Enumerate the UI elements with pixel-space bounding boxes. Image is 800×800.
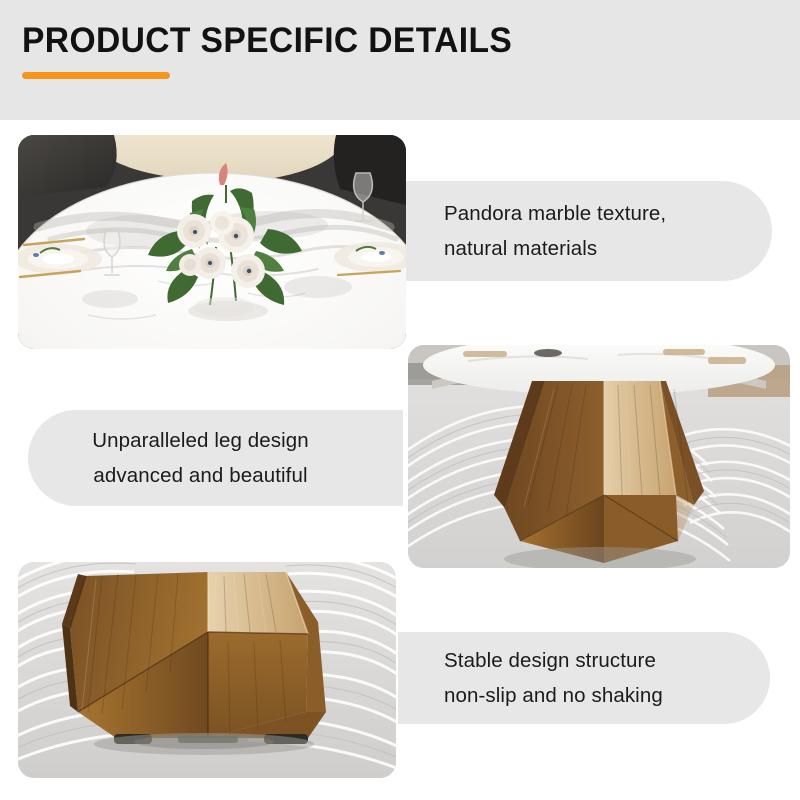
photo-faceted-wood-pedestal-base xyxy=(408,345,790,568)
callout-line-1: Stable design structure xyxy=(444,643,656,678)
photo-marble-tabletop-setting xyxy=(18,135,406,349)
title-accent-rule xyxy=(22,72,170,79)
page-title: PRODUCT SPECIFIC DETAILS xyxy=(22,21,512,61)
callout-line-2: natural materials xyxy=(444,231,597,266)
product-detail-page: PRODUCT SPECIFIC DETAILS Pandora marble … xyxy=(0,0,800,800)
photo-pedestal-base-closeup xyxy=(18,562,396,778)
callout-stable-structure: Stable design structure non-slip and no … xyxy=(398,632,770,724)
callout-line-1: Pandora marble texture, xyxy=(444,196,666,231)
callout-marble-texture: Pandora marble texture, natural material… xyxy=(398,181,772,281)
callout-line-1: Unparalleled leg design xyxy=(92,423,309,458)
callout-line-2: advanced and beautiful xyxy=(93,458,307,493)
callout-line-2: non-slip and no shaking xyxy=(444,678,663,713)
callout-leg-design: Unparalleled leg design advanced and bea… xyxy=(28,410,403,506)
